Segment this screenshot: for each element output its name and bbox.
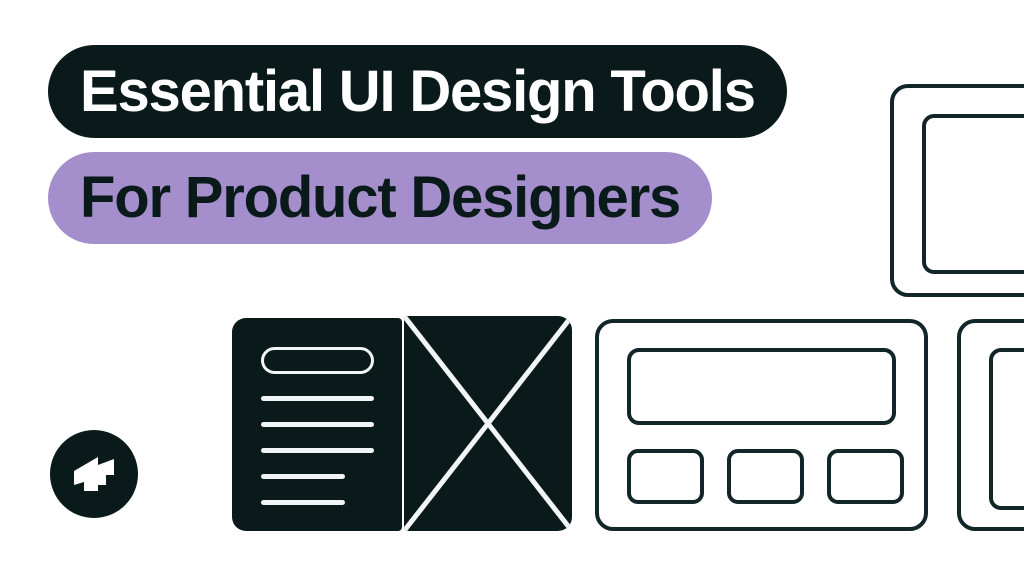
- image-placeholder-card[interactable]: [404, 316, 572, 531]
- headline-primary-text: Essential UI Design Tools: [80, 63, 755, 121]
- panel-card[interactable]: [595, 319, 928, 531]
- panel-button[interactable]: [827, 449, 904, 504]
- card-text-line: [261, 422, 374, 427]
- partial-card-inner-block: [922, 114, 1024, 274]
- headline-primary-banner: Essential UI Design Tools: [48, 45, 787, 138]
- card-text-line: [261, 474, 345, 479]
- brand-logo[interactable]: [50, 430, 138, 518]
- slide-canvas: Essential UI Design Tools For Product De…: [0, 0, 1024, 576]
- headline-secondary-text: For Product Designers: [80, 169, 680, 227]
- partial-card-inner-block: [989, 348, 1024, 510]
- card-text-line: [261, 448, 374, 453]
- card-text-line: [261, 500, 345, 505]
- card-text-line: [261, 396, 374, 401]
- panel-button[interactable]: [627, 449, 704, 504]
- card-title-placeholder: [261, 347, 374, 374]
- angular-bolt-logo-icon: [68, 451, 120, 497]
- panel-button[interactable]: [727, 449, 804, 504]
- top-right-partial-card[interactable]: [890, 84, 1024, 297]
- panel-hero-block: [627, 348, 896, 425]
- right-partial-card[interactable]: [957, 319, 1024, 531]
- content-list-card[interactable]: [232, 318, 402, 531]
- headline-secondary-banner: For Product Designers: [48, 152, 712, 244]
